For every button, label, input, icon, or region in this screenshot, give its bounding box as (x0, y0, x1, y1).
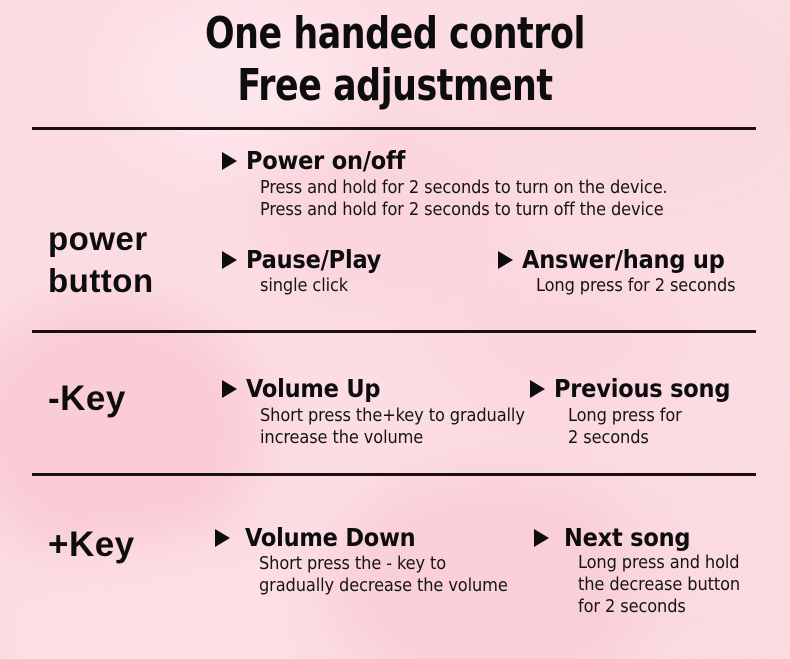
triangle-right-icon (222, 380, 237, 398)
page-title-line-2: Free adjustment (47, 60, 742, 112)
product-feature-graphic: One handed control Free adjustment power… (0, 0, 790, 659)
feature-title: Next song (564, 523, 690, 552)
feature-title: Power on/off (246, 146, 405, 175)
section-divider (32, 127, 756, 130)
feature-title: Volume Up (246, 374, 380, 403)
triangle-right-icon (222, 251, 237, 269)
triangle-right-icon (215, 529, 230, 547)
triangle-right-icon (498, 251, 513, 269)
feature-power-on-off: Power on/off Press and hold for 2 second… (222, 146, 668, 221)
page-title-line-1: One handed control (47, 8, 742, 60)
feature-description: Press and hold for 2 seconds to turn on … (260, 177, 668, 221)
feature-title: Previous song (554, 374, 730, 403)
triangle-right-icon (534, 529, 549, 547)
feature-description: Long press for 2 seconds (568, 405, 730, 449)
section-label-plus-key: +Key (48, 524, 135, 566)
section-divider (32, 473, 756, 476)
feature-title: Pause/Play (246, 245, 381, 274)
section-label-minus-key: -Key (48, 378, 126, 420)
feature-volume-up: Volume Up Short press the+key to gradual… (222, 374, 525, 449)
feature-answer-hang-up: Answer/hang up Long press for 2 seconds (498, 245, 735, 297)
triangle-right-icon (530, 380, 545, 398)
section-divider (32, 330, 756, 333)
feature-pause-play: Pause/Play single click (222, 245, 381, 297)
feature-description: Long press and hold the decrease button … (578, 552, 740, 618)
feature-title: Volume Down (245, 523, 415, 552)
feature-title: Answer/hang up (522, 245, 725, 274)
feature-description: single click (260, 275, 381, 297)
feature-previous-song: Previous song Long press for 2 seconds (530, 374, 730, 449)
feature-description: Short press the - key to gradually decre… (259, 553, 508, 597)
section-label-power-button: power button (48, 218, 154, 302)
page-title: One handed control Free adjustment (0, 8, 790, 112)
triangle-right-icon (222, 152, 237, 170)
feature-next-song: Next song Long press and hold the decrea… (534, 523, 740, 618)
feature-description: Short press the+key to gradually increas… (260, 405, 525, 449)
feature-description: Long press for 2 seconds (536, 275, 735, 297)
feature-volume-down: Volume Down Short press the - key to gra… (215, 523, 508, 597)
